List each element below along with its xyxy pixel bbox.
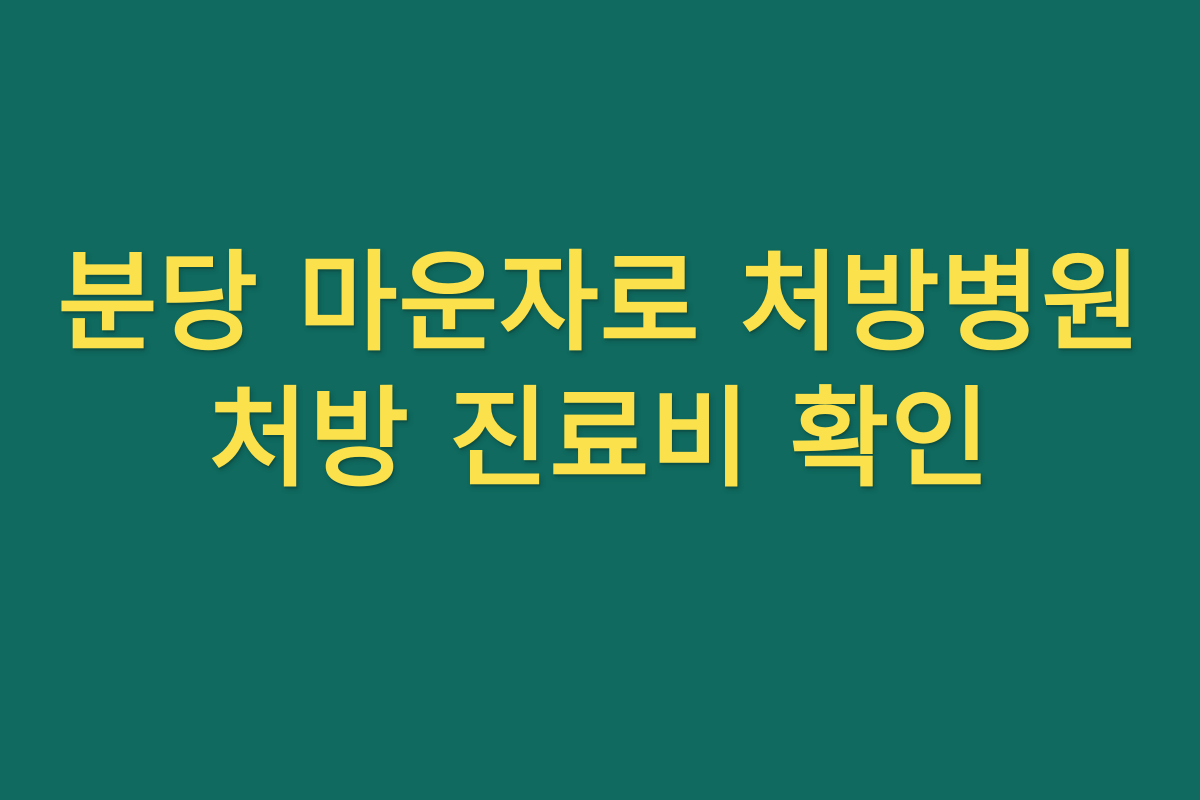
headline-block: 분당 마운자로 처방병원 처방 진료비 확인 bbox=[0, 236, 1200, 508]
banner-canvas: 분당 마운자로 처방병원 처방 진료비 확인 bbox=[0, 0, 1200, 800]
headline-line-1: 분당 마운자로 처방병원 bbox=[0, 236, 1200, 372]
headline-line-2: 처방 진료비 확인 bbox=[0, 372, 1200, 508]
